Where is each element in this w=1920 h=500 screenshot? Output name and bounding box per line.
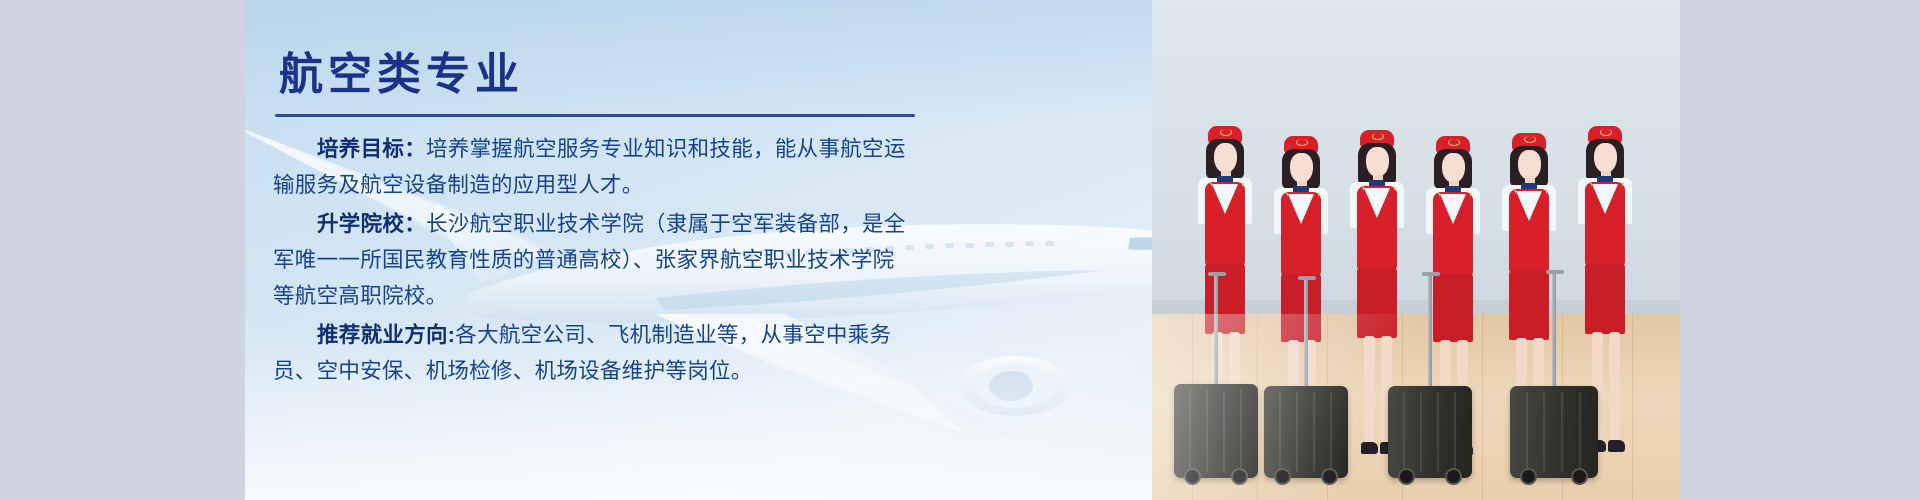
flight-attendants-photo: [1152, 0, 1680, 500]
content-band: 航空类专业 培养目标：培养掌握航空服务专业知识和技能，能从事航空运输服务及航空设…: [245, 0, 1680, 500]
banner-stage: 航空类专业 培养目标：培养掌握航空服务专业知识和技能，能从事航空运输服务及航空设…: [0, 0, 1920, 500]
page-title: 航空类专业: [279, 52, 1134, 98]
floor-sheen: [1152, 314, 1680, 500]
section-label-goal: 培养目标：: [317, 137, 426, 161]
section-paragraph-goal: 培养目标：培养掌握航空服务专业知识和技能，能从事航空运输服务及航空设备制造的应用…: [273, 131, 911, 203]
right-margin: [1680, 0, 1920, 500]
suitcase-handle-bar: [1298, 276, 1316, 280]
text-block: 航空类专业 培养目标：培养掌握航空服务专业知识和技能，能从事航空运输服务及航空设…: [245, 0, 1152, 389]
section-label-schools: 升学院校：: [317, 212, 426, 236]
left-margin: [0, 0, 245, 500]
suitcase-handle-bar: [1208, 272, 1226, 276]
section-paragraph-schools: 升学院校：长沙航空职业技术学院（隶属于空军装备部，是全军唯一一所国民教育性质的普…: [273, 206, 911, 314]
suitcase-handle-bar: [1546, 270, 1564, 274]
info-panel: 航空类专业 培养目标：培养掌握航空服务专业知识和技能，能从事航空运输服务及航空设…: [245, 0, 1152, 500]
suitcase-handle-bar: [1422, 272, 1440, 276]
section-label-careers: 推荐就业方向:: [317, 323, 455, 347]
title-divider: [275, 114, 915, 117]
section-paragraph-careers: 推荐就业方向:各大航空公司、飞机制造业等，从事空中乘务员、空中安保、机场检修、机…: [273, 317, 911, 389]
